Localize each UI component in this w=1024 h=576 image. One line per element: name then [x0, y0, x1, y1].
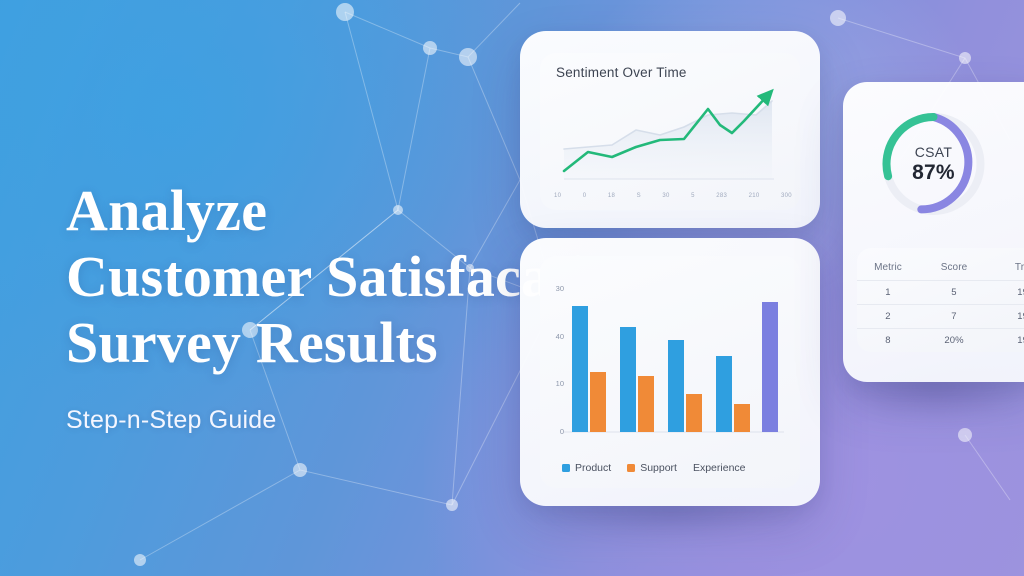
x-tick: 283: [716, 193, 727, 199]
cell-trend: 1975: [989, 281, 1024, 305]
cell-metric: 8: [857, 329, 919, 353]
cell-score: 7: [919, 305, 989, 329]
chart-title-sentiment: Sentiment Over Time: [556, 65, 687, 80]
x-tick: 30: [662, 193, 669, 199]
table-header-metric[interactable]: Metric: [857, 256, 919, 281]
bar-chart-card: 30 40 10 0: [520, 238, 820, 506]
line-chart: [548, 83, 780, 201]
table-row[interactable]: 8 20% 1999: [857, 329, 1024, 353]
sentiment-panel: Sentiment Over Time: [540, 53, 800, 210]
legend-swatch-product: [562, 464, 570, 472]
bar-product: [620, 327, 636, 432]
legend-label-support: Support: [640, 462, 677, 474]
bar-chart-legend: Product Support Experience: [562, 462, 746, 474]
cell-trend: 1999: [989, 329, 1024, 353]
bar-chart: [552, 284, 788, 444]
bar-product: [668, 340, 684, 432]
metrics-card: CSAT 87% Metric Score Trend 1 5 197: [843, 82, 1024, 382]
x-tick: 300: [781, 193, 792, 199]
table-header-row: Metric Score Trend: [857, 256, 1024, 281]
legend-item-experience[interactable]: Experience: [693, 462, 746, 474]
metrics-table: Metric Score Trend 1 5 1975 2 7 1956: [857, 256, 1024, 352]
bar-support: [590, 372, 606, 432]
x-tick: 5: [691, 193, 695, 199]
bar-support: [686, 394, 702, 432]
csat-donut-wrap: CSAT 87%: [843, 94, 1024, 234]
csat-value: 87%: [912, 161, 955, 185]
table-header-trend[interactable]: Trend: [989, 256, 1024, 281]
cell-metric: 2: [857, 305, 919, 329]
legend-label-experience: Experience: [693, 462, 746, 474]
table-row[interactable]: 2 7 1956: [857, 305, 1024, 329]
legend-item-support[interactable]: Support: [627, 462, 677, 474]
csat-donut-center: CSAT 87%: [843, 94, 1024, 234]
table-header-score[interactable]: Score: [919, 256, 989, 281]
cell-score: 20%: [919, 329, 989, 353]
cell-trend: 1956: [989, 305, 1024, 329]
bar-product: [716, 356, 732, 432]
bar-support: [638, 376, 654, 432]
bar-support: [734, 404, 750, 432]
x-tick: S: [637, 193, 641, 199]
bar-product: [572, 306, 588, 432]
cell-score: 5: [919, 281, 989, 305]
x-tick: 210: [749, 193, 760, 199]
sentiment-card: Sentiment Over Time: [520, 31, 820, 228]
x-tick: 18: [608, 193, 615, 199]
legend-item-product[interactable]: Product: [562, 462, 611, 474]
metrics-table-panel: Metric Score Trend 1 5 1975 2 7 1956: [857, 248, 1024, 352]
bar-experience: [762, 302, 778, 432]
poster-canvas: Analyze Customer Satisfacation Survey Re…: [0, 0, 1024, 576]
x-tick: 10: [554, 193, 561, 199]
line-chart-x-axis: 10 0 18 S 30 5 283 210 300: [554, 190, 792, 202]
table-row[interactable]: 1 5 1975: [857, 281, 1024, 305]
csat-label: CSAT: [915, 144, 953, 160]
bar-chart-panel: 30 40 10 0: [540, 256, 800, 488]
legend-label-product: Product: [575, 462, 611, 474]
cell-metric: 1: [857, 281, 919, 305]
legend-swatch-support: [627, 464, 635, 472]
x-tick: 0: [583, 193, 587, 199]
